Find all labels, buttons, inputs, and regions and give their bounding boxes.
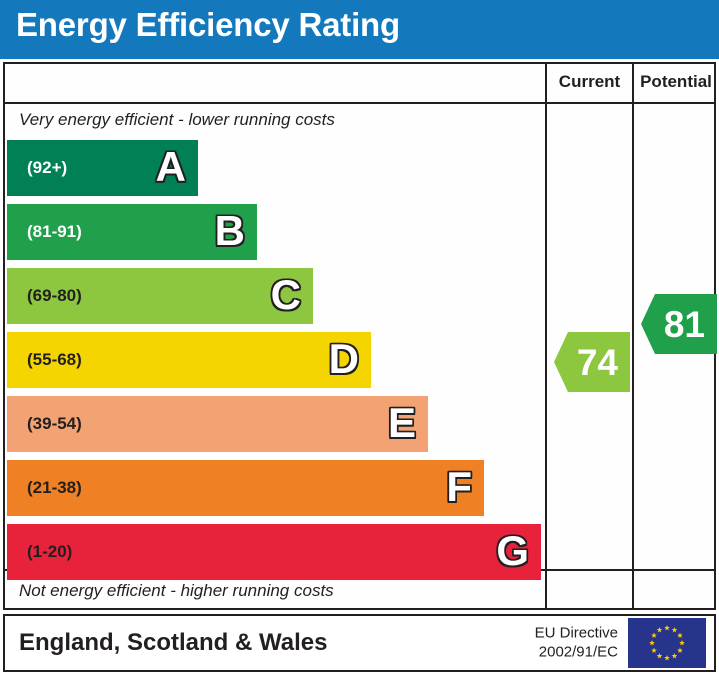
eu-flag-icon: [628, 618, 706, 668]
certificate-header: Energy Efficiency Rating: [0, 0, 719, 59]
band-bar-d: (55-68)D: [7, 332, 371, 388]
current-rating-arrow: 74: [554, 332, 630, 392]
band-range-b: (81-91): [27, 222, 82, 242]
band-letter-f: F: [446, 466, 472, 508]
band-bar-a: (92+)A: [7, 140, 198, 196]
rating-table: Current Potential Very energy efficient …: [3, 62, 716, 610]
column-divider-potential: [632, 64, 634, 608]
eu-directive-line-1: EU Directive: [535, 624, 618, 643]
band-range-d: (55-68): [27, 350, 82, 370]
band-bar-e: (39-54)E: [7, 396, 428, 452]
band-bar-g: (1-20)G: [7, 524, 541, 580]
band-range-a: (92+): [27, 158, 67, 178]
eu-directive-label: EU Directive 2002/91/EC: [535, 624, 618, 662]
band-bar-f: (21-38)F: [7, 460, 484, 516]
band-letter-b: B: [215, 210, 245, 252]
current-rating-value: 74: [577, 344, 618, 381]
region-label: England, Scotland & Wales: [19, 629, 327, 657]
potential-rating-arrow: 81: [641, 294, 717, 354]
band-letter-a: A: [156, 146, 186, 188]
band-bar-c: (69-80)C: [7, 268, 313, 324]
eu-directive-line-2: 2002/91/EC: [535, 643, 618, 662]
page-title: Energy Efficiency Rating: [16, 6, 400, 44]
certificate-footer: England, Scotland & Wales EU Directive 2…: [3, 614, 716, 672]
column-header-current: Current: [547, 72, 632, 92]
caption-very-efficient: Very energy efficient - lower running co…: [19, 110, 335, 130]
band-range-f: (21-38): [27, 478, 82, 498]
band-letter-e: E: [388, 402, 416, 444]
header-row-divider: [5, 102, 714, 104]
energy-efficiency-rating-certificate: Energy Efficiency Rating Current Potenti…: [0, 0, 719, 675]
band-range-c: (69-80): [27, 286, 82, 306]
band-bar-b: (81-91)B: [7, 204, 257, 260]
band-letter-d: D: [329, 338, 359, 380]
band-range-e: (39-54): [27, 414, 82, 434]
column-divider-current: [545, 64, 547, 608]
potential-rating-value: 81: [664, 306, 705, 343]
band-bar-list: (92+)A(81-91)B(69-80)C(55-68)D(39-54)E(2…: [5, 140, 545, 570]
band-letter-g: G: [496, 530, 529, 572]
band-letter-c: C: [271, 274, 301, 316]
caption-not-efficient: Not energy efficient - higher running co…: [19, 581, 334, 601]
column-header-potential: Potential: [634, 72, 718, 92]
band-range-g: (1-20): [27, 542, 72, 562]
